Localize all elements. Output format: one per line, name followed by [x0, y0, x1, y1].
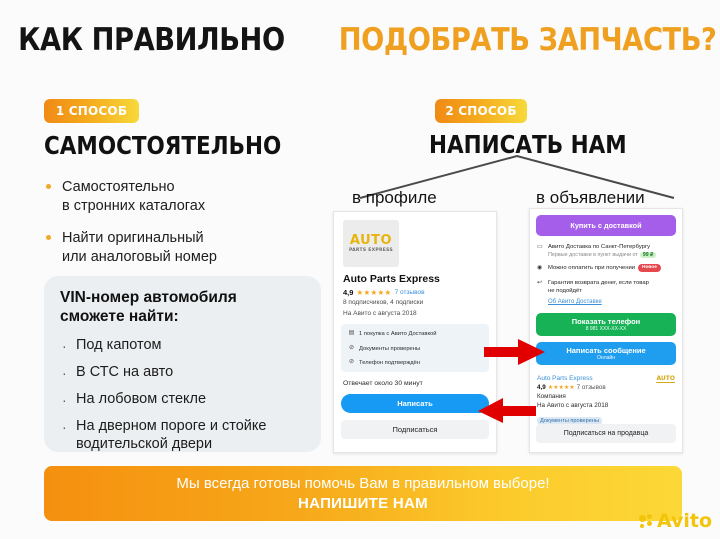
vin-list-item-text: На лобовом стекле: [76, 390, 310, 408]
bullet-dot-icon: [46, 235, 51, 240]
method-one-bullet-2-text: Найти оригинальный или аналоговый номер: [62, 230, 217, 265]
feature-text: 1 покупка с Авито Доставкой: [359, 331, 437, 337]
delivery-row: ↩ Гарантия возврата денег, если товар не…: [537, 279, 677, 295]
vin-list-item-text: Под капотом: [76, 336, 310, 354]
seller-reviews[interactable]: 7 отзывов: [577, 384, 606, 391]
followers-count: 8 подписчиков, 4 подписки: [343, 299, 423, 306]
vin-list-item: · В СТС на авто: [62, 363, 310, 381]
feature-row: ▤ 1 покупка с Авито Доставкой: [348, 330, 437, 337]
dash-bullet-icon: ·: [62, 418, 67, 436]
vin-list-item: · На дверном пороге и стойке водительско…: [62, 417, 310, 453]
return-icon: ↩: [537, 279, 542, 287]
avatar-logo-line1: AUTO: [350, 234, 392, 247]
member-since: На Авито с августа 2018: [343, 310, 417, 317]
box-icon: ▤: [348, 330, 355, 337]
seller-type: Компания: [537, 393, 677, 400]
avito-wordmark: Avito: [657, 512, 712, 531]
delivery-row-text: Можно оплатить при полученииНовое: [548, 264, 677, 272]
about-delivery-link[interactable]: Об Авито Доставке: [548, 299, 602, 305]
feature-text: Документы проверены: [359, 346, 420, 352]
delivery-row: ▭ Авито Доставка по Санкт-Петербургу: [537, 243, 677, 251]
vin-info-card: VIN-номер автомобиля сможете найти: · По…: [44, 276, 321, 452]
truck-icon: ▭: [537, 243, 543, 251]
bottom-cta-banner: Мы всегда готовы помочь Вам в правильном…: [44, 466, 682, 521]
delivery-subtext: Первые доставки в пункт выдачи от99 ₽: [548, 252, 656, 258]
wallet-icon: ◉: [537, 264, 542, 272]
buy-with-delivery-button[interactable]: Купить с доставкой: [536, 215, 676, 236]
delivery-subtext-label: Первые доставки в пункт выдачи от: [548, 252, 638, 258]
avito-dots-icon: [639, 514, 655, 530]
delivery-row-text: Авито Доставка по Санкт-Петербургу: [548, 243, 677, 251]
profile-features-box: ▤ 1 покупка с Авито Доставкой ⊘ Документ…: [341, 324, 489, 372]
title-yellow-part: ПОДОБРАТЬ ЗАПЧАСТЬ?: [339, 22, 717, 58]
method-two-badge: 2 СПОСОБ: [435, 99, 527, 123]
subheading-in-listing: в объявлении: [536, 188, 645, 208]
avatar: AUTO PARTS EXPRESS: [343, 220, 399, 267]
check-circle-icon: ⊘: [348, 359, 355, 366]
show-phone-number: 8 981 XXX-XX-XX: [586, 326, 627, 332]
answer-time: Отвечает около 30 минут: [343, 380, 423, 387]
new-badge: Новое: [638, 264, 661, 272]
vin-list-item-text: В СТС на авто: [76, 363, 310, 381]
price-pill: 99 ₽: [640, 252, 657, 258]
feature-row: ⊘ Телефон подтверждён: [348, 359, 420, 366]
shop-name: Auto Parts Express: [343, 273, 440, 285]
profile-screenshot-card: AUTO PARTS EXPRESS Auto Parts Express 4,…: [333, 211, 497, 453]
stars-icon: ★★★★★: [548, 384, 575, 391]
avito-watermark: Avito: [639, 512, 712, 531]
show-phone-label: Показать телефон: [572, 317, 640, 326]
dash-bullet-icon: ·: [62, 337, 67, 355]
seller-logo: AUTO: [656, 375, 675, 383]
feature-row: ⊘ Документы проверены: [348, 345, 420, 352]
rating-row: 4,9 ★★★★★ 7 отзывов: [343, 288, 425, 297]
dash-bullet-icon: ·: [62, 364, 67, 382]
subscribe-button[interactable]: Подписаться: [341, 420, 489, 439]
delivery-row: ◉ Можно оплатить при полученииНовое: [537, 264, 677, 272]
poster-canvas: КАК ПРАВИЛЬНО ПОДОБРАТЬ ЗАПЧАСТЬ? 1 СПОС…: [0, 0, 720, 539]
dash-bullet-icon: ·: [62, 391, 67, 409]
subscribe-seller-button[interactable]: Подписаться на продавца: [536, 424, 676, 443]
bullet-dot-icon: [46, 184, 51, 189]
subheading-in-profile: в профиле: [352, 188, 437, 208]
avatar-logo-line2: PARTS EXPRESS: [349, 248, 393, 253]
write-button[interactable]: Написать: [341, 394, 489, 413]
seller-since: На Авито с августа 2018: [537, 402, 677, 409]
online-status: Онлайн: [597, 355, 615, 361]
show-phone-button[interactable]: Показать телефон 8 981 XXX-XX-XX: [536, 313, 676, 336]
vin-list-item-text: На дверном пороге и стойке водительской …: [76, 417, 310, 453]
vin-list-item: · На лобовом стекле: [62, 390, 310, 408]
banner-line-1: Мы всегда готовы помочь Вам в правильном…: [176, 475, 549, 492]
send-message-label: Написать сообщение: [566, 346, 645, 355]
method-one-badge: 1 СПОСОБ: [44, 99, 139, 123]
seller-block: AUTO Auto Parts Express 4,9 ★★★★★ 7 отзы…: [537, 375, 677, 427]
page-title: КАК ПРАВИЛЬНО ПОДОБРАТЬ ЗАПЧАСТЬ?: [0, 22, 720, 58]
method-one-bullet-1-text: Самостоятельно в стронних каталогах: [62, 179, 205, 214]
title-black-part: КАК ПРАВИЛЬНО: [18, 22, 285, 58]
feature-text: Телефон подтверждён: [359, 360, 420, 366]
stars-icon: ★★★★★: [356, 288, 391, 297]
arrow-to-message-button: [484, 338, 546, 366]
method-one-heading: САМОСТОЯТЕЛЬНО: [44, 131, 281, 160]
delivery-row-label: Можно оплатить при получении: [548, 265, 635, 271]
check-circle-icon: ⊘: [348, 345, 355, 352]
vin-list-item: · Под капотом: [62, 336, 310, 354]
delivery-row-text: Гарантия возврата денег, если товар не п…: [548, 279, 677, 295]
send-message-button[interactable]: Написать сообщение Онлайн: [536, 342, 676, 365]
seller-rating-row: 4,9 ★★★★★ 7 отзывов: [537, 384, 677, 391]
seller-rating-value: 4,9: [537, 384, 546, 391]
reviews-link[interactable]: 7 отзывов: [395, 289, 425, 296]
banner-line-2: НАПИШИТЕ НАМ: [298, 495, 428, 512]
method-one-bullet-2: Найти оригинальный или аналоговый номер: [62, 229, 292, 267]
rating-value: 4,9: [343, 288, 353, 297]
arrow-to-write-button: [478, 398, 536, 424]
listing-screenshot-card: Купить с доставкой ▭ Авито Доставка по С…: [529, 208, 683, 453]
vin-card-title: VIN-номер автомобиля сможете найти:: [60, 288, 310, 326]
method-one-bullet-1: Самостоятельно в стронних каталогах: [62, 178, 292, 216]
